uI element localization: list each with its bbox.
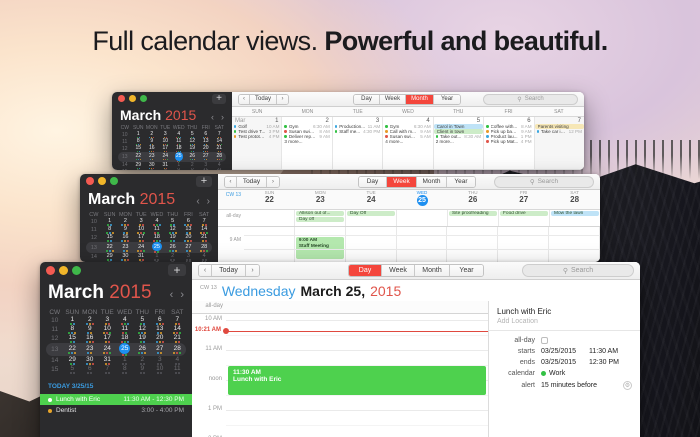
mini-calendar-week-window[interactable]: CW SUN MON TUE WED THU FRI SAT 101234567… [80,212,218,262]
mini-calendar-day[interactable]: 12 [165,226,181,234]
mini-calendar-day[interactable]: 11 [116,325,134,334]
mini-calendar-day[interactable]: 15 [64,334,82,343]
mini-calendar-day[interactable]: 18 [172,145,186,152]
week-day-header-cell[interactable]: WED25 [397,190,448,209]
month-day-cell[interactable]: 2Gym6:30 AMSusan swim...8 AMDeliver repo… [282,117,332,169]
mini-calendar-day[interactable]: 3 [133,218,149,226]
mini-calendar-day[interactable]: 29 [102,253,118,261]
mini-calendar-day[interactable]: 10 [99,325,117,334]
mini-calendar-day[interactable]: 16 [118,234,134,242]
next-month-icon[interactable]: › [207,196,210,207]
mini-calendar-day[interactable]: 8 [172,169,186,171]
mini-calendar-day[interactable]: 24 [159,152,173,162]
next-period-icon[interactable]: › [277,95,288,104]
next-period-icon[interactable]: › [246,265,259,276]
week-time-grid[interactable]: 9 AM 9:00 AMStaff Meeting [218,227,600,262]
mini-calendar-day[interactable]: 6 [145,169,159,171]
view-switcher-day-window[interactable]: Day Week Month Year [348,264,484,277]
week-allday-row[interactable]: all-day Allison out of...Day offDay OffS… [218,210,600,227]
mini-day-number: 9 [191,169,194,171]
day-allday-slot[interactable] [226,301,488,313]
mini-calendar-day[interactable]: 2 [165,253,181,261]
sidebar-event-row[interactable]: Dentist3:00 - 4:00 PM [40,405,192,416]
mini-calendar-week-row[interactable]: 101234567 [86,218,212,226]
sidebar-day-window: + March 2015 ‹ › CW SUN MON TUE WED THU … [40,262,192,437]
close-icon[interactable] [86,177,94,185]
mini-day-number: 18 [176,145,182,151]
mini-calendar-day[interactable]: 5 [132,169,146,171]
half-hour-gridline [226,335,488,336]
week-allday-cell[interactable] [244,210,295,226]
mini-cw-number: 14 [86,253,102,261]
week-allday-cell[interactable]: Allison out of...Day off [295,210,346,226]
mini-calendar-day-window[interactable]: CW SUN MON TUE WED THU FRI SAT 101234567… [40,309,192,374]
mini-calendar-day[interactable]: 7 [213,131,227,138]
mini-calendar-day[interactable]: 2 [145,131,159,138]
mini-calendar-day[interactable]: 23 [81,343,99,356]
mini-calendar-day[interactable]: 13 [199,138,213,145]
mini-calendar-day[interactable]: 25 [172,152,186,162]
tab-month[interactable]: Month [415,265,450,276]
month-day-cell[interactable]: 3Production...11 AMStaff me...4:30 PM [333,117,383,169]
week-timed-event[interactable]: 9:00 AMStaff Meeting [296,237,344,259]
mini-calendar-day[interactable]: 30 [118,253,134,261]
mini-calendar-day[interactable]: 7 [159,169,173,171]
sidebar-event-row[interactable]: Lunch with Eric11:30 AM - 12:30 PM [40,394,192,405]
mini-calendar-day[interactable]: 22 [102,242,118,253]
mini-calendar-day[interactable]: 8 [64,325,82,334]
calendar-window-month[interactable]: + March 2015 ‹ › CW SUN MON TUE WED THU … [112,92,584,170]
mini-calendar-day[interactable]: 30 [145,162,159,169]
allday-event[interactable]: Food drive [500,211,548,216]
mini-calendar-day[interactable]: 21 [196,234,212,242]
mini-calendar-day[interactable]: 4 [149,218,165,226]
mini-calendar-day[interactable]: 19 [186,145,200,152]
mini-calendar-day[interactable]: 2 [134,356,152,365]
mini-calendar-week-row[interactable]: 1215161718192021 [118,145,226,152]
month-more-events-link[interactable]: 3 more... [282,139,331,144]
event-color-dot [486,140,488,142]
mini-calendar-day[interactable]: 31 [133,253,149,261]
week-day-header-cell[interactable]: THU26 [447,190,498,209]
mini-calendar-day[interactable]: 6 [199,131,213,138]
mini-calendar-week-row[interactable]: 1215161718192021 [86,234,212,242]
mini-calendar-day[interactable]: 26 [186,152,200,162]
mini-calendar-day[interactable]: 24 [99,343,117,356]
mini-day-event-dots [99,352,117,354]
mini-calendar-day[interactable]: 26 [134,343,152,356]
mini-calendar-day[interactable]: 16 [145,145,159,152]
inspector-calendar-row[interactable]: calendar Work [497,370,632,377]
mini-calendar-day[interactable]: 10 [159,138,173,145]
zoom-icon[interactable] [140,95,147,102]
day-hour-grid[interactable]: 10 AM11 AMnoon1 PM2 PM10:21 AM11:30 AMLu… [192,314,488,437]
mini-calendar-week-row[interactable]: 1322232425262728 [46,343,186,356]
mini-calendar-day[interactable]: 17 [133,234,149,242]
mini-calendar-day[interactable]: 6 [181,218,197,226]
mini-calendar-day[interactable]: 16 [81,334,99,343]
mini-calendar-week-row[interactable]: 1215161718192021 [46,334,186,343]
mini-calendar-day[interactable]: 1 [149,253,165,261]
mini-calendar-week-row[interactable]: 15567891011 [46,365,186,374]
month-nav-arrows[interactable]: ‹ › [170,289,184,301]
tab-year[interactable]: Year [434,95,460,104]
inspector-ends-row[interactable]: ends 03/25/2015 12:30 PM [497,359,632,366]
add-event-button[interactable]: + [168,264,186,276]
mini-calendar-day[interactable]: 21 [213,145,227,152]
allday-label: all-day [192,301,226,313]
tab-week[interactable]: Week [387,177,417,187]
minimize-icon[interactable] [98,177,106,185]
window-controls-week[interactable] [86,177,118,185]
month-event[interactable]: Take car in...12 PM [535,129,584,134]
month-day-cell[interactable]: 5Carol in TownClient in townTake out...8… [434,117,484,169]
week-day-header-cell[interactable]: TUE24 [346,190,397,209]
add-event-button[interactable]: + [196,176,212,187]
mini-calendar-day[interactable]: 27 [181,242,197,253]
week-allday-cell[interactable]: Food drive [499,210,550,226]
mini-calendar-day[interactable]: 29 [64,356,82,365]
calendar-window-day[interactable]: + March 2015 ‹ › CW SUN MON TUE WED THU … [40,262,640,437]
month-day-cell[interactable]: 6Coffee with...8 AMPick up bagels9 AMPro… [484,117,534,169]
mini-calendar-day[interactable]: 20 [181,234,197,242]
mini-calendar-day[interactable]: 6 [81,365,99,374]
mini-calendar-day[interactable]: 5 [134,316,152,325]
week-allday-cell[interactable]: Day Off [346,210,397,226]
week-day-header-cell[interactable]: MON23 [295,190,346,209]
zoom-icon[interactable] [110,177,118,185]
allday-event[interactable]: Allison out of... [296,211,344,216]
mini-calendar-day[interactable]: 9 [186,169,200,171]
mini-calendar-day[interactable]: 13 [151,325,169,334]
mini-calendar-day[interactable]: 6 [151,316,169,325]
next-month-icon[interactable]: › [180,289,184,301]
mini-calendar-day[interactable]: 10 [151,365,169,374]
mini-calendar-day[interactable]: 11 [172,138,186,145]
mini-calendar-day[interactable]: 4 [116,316,134,325]
today-button[interactable]: Today [237,177,267,187]
week-day-column[interactable] [498,227,549,262]
mini-calendar-day[interactable]: 12 [186,138,200,145]
today-event-list[interactable]: Lunch with Eric11:30 AM - 12:30 PMDentis… [40,394,192,416]
mini-day-number: 14 [174,325,181,332]
mini-calendar-day[interactable]: 20 [151,334,169,343]
weekday-sat: SAT [534,107,584,116]
today-button[interactable]: Today [212,265,246,276]
mini-cw-number: 14 [46,356,64,365]
mini-calendar-day[interactable]: 22 [64,343,82,356]
view-switcher-month-window[interactable]: Day Week Month Year [353,94,461,105]
mini-day-number: 25 [152,242,161,251]
inspector-location-field[interactable]: Add Location [497,318,632,325]
tab-day[interactable]: Day [349,265,382,276]
mini-calendar-day[interactable]: 30 [81,356,99,365]
mini-day-number: 26 [189,153,195,159]
event-title: Staff me... [339,129,361,134]
tab-year[interactable]: Year [450,265,483,276]
mini-calendar-day[interactable]: 3 [199,162,213,169]
mini-calendar-day[interactable]: 8 [116,365,134,374]
day-event-block[interactable]: 11:30 AMLunch with Eric [228,366,486,395]
mini-calendar-day[interactable]: 10 [199,169,213,171]
allday-checkbox[interactable] [541,337,548,344]
event-inspector[interactable]: Lunch with Eric Add Location all-day sta… [488,301,640,437]
mini-calendar-day[interactable]: 1 [172,162,186,169]
mini-calendar-day[interactable]: 23 [118,242,134,253]
allday-event[interactable]: Day Off [347,211,395,216]
mini-calendar-day[interactable]: 5 [64,365,82,374]
month-grid[interactable]: Mar1Golf10 AMTest drive T...3 PMTest pro… [232,117,584,170]
inspector-alert-row[interactable]: alert 15 minutes before ⚙ [497,381,632,390]
minimize-icon[interactable] [59,266,68,275]
mini-calendar-day[interactable]: 5 [165,218,181,226]
today-navigation-group[interactable]: ‹ Today › [198,264,260,277]
minimize-icon[interactable] [129,95,136,102]
mini-calendar-day[interactable]: 4 [169,356,187,365]
mini-calendar-day[interactable]: 27 [199,152,213,162]
mini-calendar-day[interactable]: 26 [165,242,181,253]
week-day-column[interactable] [447,227,498,262]
today-navigation-group[interactable]: ‹ Today › [224,176,280,188]
inspector-title: Lunch with Eric [497,307,632,316]
calendar-label: calendar [497,370,535,377]
mini-calendar-day[interactable]: 23 [145,152,159,162]
ends-date-field[interactable]: 03/25/2015 [541,359,589,366]
month-day-cell[interactable]: 4Gym6:30 AMCall with m...9 AMSusan swim.… [383,117,433,169]
toolbar-day-window[interactable]: ‹ Today › Day Week Month Year ⚲ Search [192,262,640,280]
calendar-window-week[interactable]: + March 2015 ‹ › CW SUN MON TUE WED THU … [80,174,600,262]
toolbar-month-window[interactable]: ‹ Today › Day Week Month Year ⚲ Search [232,92,584,107]
mini-calendar-day[interactable]: 22 [132,152,146,162]
mini-calendar-day[interactable]: 9 [118,226,134,234]
mini-calendar-day[interactable]: 1 [116,356,134,365]
mini-day-event-dots [186,159,200,160]
week-day-column[interactable] [346,227,397,262]
week-day-header-cell[interactable]: FRI27 [498,190,549,209]
inspector-allday-row[interactable]: all-day [497,337,632,344]
starts-time-field[interactable]: 11:30 AM [589,348,618,355]
mini-day-number: 30 [86,356,93,363]
prev-period-icon[interactable]: ‹ [199,265,212,276]
mini-calendar-week-row[interactable]: 142930311234 [118,162,226,169]
prev-period-icon[interactable]: ‹ [225,177,237,187]
mini-calendar-day[interactable]: 4 [213,162,227,169]
week-allday-cell[interactable]: Mow the lawn [550,210,600,226]
mini-calendar-day[interactable]: 28 [213,152,227,162]
mini-calendar-day[interactable]: 20 [199,145,213,152]
tab-day[interactable]: Day [359,177,387,187]
mini-calendar-day[interactable]: 19 [165,234,181,242]
mini-day-number: 6 [88,365,92,372]
mini-calendar-week-row[interactable]: 1322232425262728 [118,152,226,162]
mini-calendar-day[interactable]: 7 [99,365,117,374]
week-day-column[interactable] [549,227,600,262]
mini-calendar-day[interactable]: 3 [181,253,197,261]
allday-event[interactable]: Site proofreading [449,211,497,216]
ends-time-field[interactable]: 12:30 PM [589,359,619,366]
inspector-starts-row[interactable]: starts 03/25/2015 11:30 AM [497,348,632,355]
event-title: Take car in... [541,129,567,134]
week-day-header-cell[interactable]: SUN22 [244,190,295,209]
mini-calendar-day[interactable]: 25 [116,343,134,356]
tab-month[interactable]: Month [406,95,434,104]
tab-year[interactable]: Year [447,177,475,187]
zoom-icon[interactable] [72,266,81,275]
allday-event[interactable]: Mow the lawn [551,211,599,216]
mini-calendar-day[interactable]: 11 [169,365,187,374]
month-day-cell[interactable]: 7Parents visitingTake car in...12 PM [535,117,584,169]
next-month-icon[interactable]: › [221,112,224,122]
month-event[interactable]: Pick up Mat...4 PM [484,139,533,144]
mini-calendar-day[interactable]: 19 [134,334,152,343]
window-controls-day[interactable] [46,266,81,275]
month-day-number: 4 [383,117,432,124]
mini-calendar-day[interactable]: 1 [132,131,146,138]
mini-calendar-day[interactable]: 14 [169,325,187,334]
mini-calendar-day[interactable]: 11 [213,169,227,171]
prev-month-icon[interactable]: ‹ [211,112,214,122]
mini-calendar-month-window[interactable]: CW SUN MON TUE WED THU FRI SAT 101234567… [112,125,232,170]
mini-day-number: 11 [176,138,181,144]
tab-week[interactable]: Week [380,95,406,104]
search-input[interactable]: ⚲ Search [494,176,594,188]
mini-calendar-day[interactable]: 10 [133,226,149,234]
month-event[interactable]: Test prototype4 PM [232,134,281,139]
mini-calendar-day[interactable]: 18 [116,334,134,343]
mini-calendar-week-row[interactable]: 101234567 [118,131,226,138]
prev-month-icon[interactable]: ‹ [170,289,174,301]
mini-day-number: 31 [162,162,168,168]
alert-value[interactable]: 15 minutes before [541,382,597,389]
mini-calendar-day[interactable]: 8 [102,226,118,234]
mini-calendar-day[interactable]: 14 [196,226,212,234]
mini-calendar-week-row[interactable]: 11891011121314 [86,226,212,234]
mini-calendar-week-row[interactable]: 1322232425262728 [86,242,212,253]
mini-calendar-week-row[interactable]: 142930311234 [86,253,212,261]
prev-month-icon[interactable]: ‹ [196,196,199,207]
mini-calendar-day[interactable]: 13 [181,226,197,234]
mini-calendar-week-row[interactable]: 142930311234 [46,356,186,365]
mini-calendar-day[interactable]: 11 [149,226,165,234]
view-switcher-week-window[interactable]: Day Week Month Year [358,176,476,188]
mini-calendar-day[interactable]: 18 [149,234,165,242]
prev-period-icon[interactable]: ‹ [239,95,250,104]
today-navigation-group[interactable]: ‹ Today › [238,94,289,105]
close-icon[interactable] [46,266,55,275]
tab-week[interactable]: Week [382,265,415,276]
week-day-header-cell[interactable]: SAT28 [549,190,600,209]
titlebar-month-window: + [112,92,232,105]
mini-calendar-day[interactable]: 3 [151,356,169,365]
week-allday-cell[interactable] [397,210,448,226]
mini-calendar-day[interactable]: 31 [159,162,173,169]
mini-calendar-day[interactable]: 1 [102,218,118,226]
event-color-dot [335,125,337,127]
mini-calendar-day[interactable]: 21 [169,334,187,343]
week-allday-cell[interactable]: Site proofreading [448,210,499,226]
mini-calendar-day[interactable]: 15 [102,234,118,242]
mini-calendar-day[interactable]: 9 [81,325,99,334]
hour-gridline [226,320,488,321]
mini-calendar-day[interactable]: 1 [64,316,82,325]
calendar-value[interactable]: Work [549,370,565,377]
mini-calendar-day[interactable]: 3 [159,131,173,138]
starts-date-field[interactable]: 03/25/2015 [541,348,589,355]
mini-calendar-day[interactable]: 15 [132,145,146,152]
mini-calendar-day[interactable]: 28 [169,343,187,356]
mini-calendar-day[interactable]: 4 [196,253,212,261]
window-controls-month[interactable] [118,95,147,102]
allday-event[interactable]: Day off [296,217,344,222]
mini-calendar-day[interactable]: 2 [81,316,99,325]
mini-calendar-day[interactable]: 24 [133,242,149,253]
search-input[interactable]: ⚲ Search [483,94,578,105]
mini-calendar-day[interactable]: 17 [99,334,117,343]
day-timeline[interactable]: all-day 10 AM11 AMnoon1 PM2 PM10:21 AM11… [192,301,488,437]
mini-calendar-week-row[interactable]: 11891011121314 [118,138,226,145]
tab-month[interactable]: Month [417,177,447,187]
day-allday-row[interactable]: all-day [192,301,488,314]
month-more-events-link[interactable]: 2 more... [434,139,483,144]
mini-calendar-day[interactable]: 4 [172,131,186,138]
mini-calendar-day[interactable]: 3 [99,316,117,325]
mini-calendar-day[interactable]: 8 [132,138,146,145]
today-button[interactable]: Today [250,95,277,104]
week-day-column[interactable] [397,227,448,262]
month-nav-arrows[interactable]: ‹ › [211,112,224,122]
weekday-mon: MON [282,107,332,116]
close-icon[interactable] [118,95,125,102]
month-day-number: 7 [535,117,584,124]
mini-calendar-week-row[interactable]: 101234567 [46,316,186,325]
mini-calendar-day[interactable]: 7 [196,218,212,226]
mini-calendar-day[interactable]: 2 [118,218,134,226]
mini-calendar-day[interactable]: 27 [151,343,169,356]
mini-calendar-body: 1012345671189101112131412151617181920211… [46,316,186,374]
mini-calendar-day[interactable]: 12 [134,325,152,334]
gear-icon[interactable]: ⚙ [623,381,632,390]
month-event[interactable]: Staff me...4:30 PM [333,129,382,134]
week-day-column[interactable]: 9:00 AMStaff Meeting [295,227,346,262]
month-day-cell[interactable]: Mar1Golf10 AMTest drive T...3 PMTest pro… [232,117,282,169]
mini-calendar-day[interactable]: 28 [196,242,212,253]
search-input[interactable]: ⚲ Search [522,264,634,277]
week-day-column[interactable] [244,227,295,262]
mini-calendar-day[interactable]: 9 [145,138,159,145]
month-nav-arrows[interactable]: ‹ › [196,196,210,207]
month-more-events-link[interactable]: 4 more... [383,139,432,144]
toolbar-week-window[interactable]: ‹ Today › Day Week Month Year ⚲ Search [218,174,600,190]
week-day-number: 25 [417,195,428,206]
mini-calendar-day[interactable]: 9 [134,365,152,374]
mini-day-number: 1 [123,356,127,363]
mini-calendar-day[interactable]: 31 [99,356,117,365]
add-event-button[interactable]: + [212,94,226,104]
tab-day[interactable]: Day [354,95,380,104]
mini-calendar-day[interactable]: 7 [169,316,187,325]
mini-calendar-day[interactable]: 25 [149,242,165,253]
mini-day-number: 7 [175,316,179,323]
mini-calendar-day[interactable]: 14 [213,138,227,145]
mini-day-number: 29 [69,356,76,363]
next-period-icon[interactable]: › [267,177,279,187]
mini-calendar-day[interactable]: 2 [186,162,200,169]
mini-calendar-week-row[interactable]: 11891011121314 [46,325,186,334]
mini-calendar-day[interactable]: 29 [132,162,146,169]
mini-calendar-week-row[interactable]: 15567891011 [118,169,226,171]
mini-calendar-day[interactable]: 5 [186,131,200,138]
mini-calendar-day[interactable]: 17 [159,145,173,152]
